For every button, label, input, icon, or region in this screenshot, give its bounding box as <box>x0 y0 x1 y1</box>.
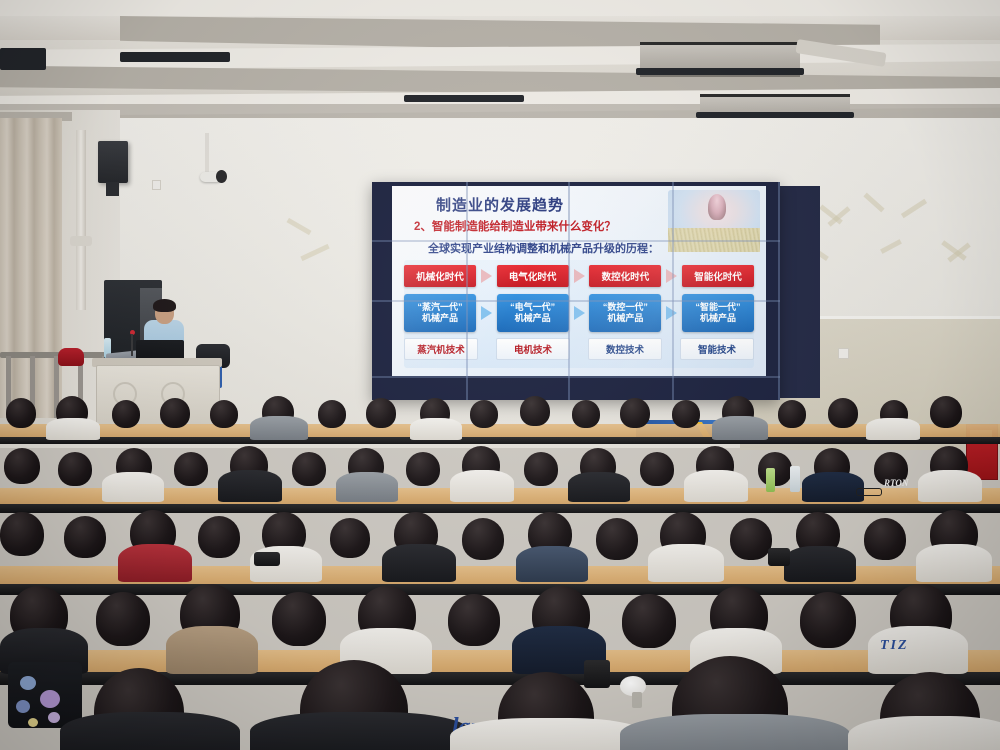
student-head <box>112 400 140 428</box>
video-wall-seam <box>568 182 570 400</box>
student-body <box>916 544 992 582</box>
shirt-back-text-right: TIZ <box>880 638 909 654</box>
student-head <box>96 592 150 646</box>
student-head <box>0 512 44 556</box>
student-head <box>318 400 346 428</box>
ceiling-hvac-unit <box>636 68 804 75</box>
student-body <box>218 470 282 502</box>
student-body <box>568 472 630 502</box>
student-body <box>848 716 1000 750</box>
student-body <box>450 470 514 502</box>
desk-row <box>0 437 1000 444</box>
student-head <box>406 452 440 486</box>
diagram-row-technologies: 蒸汽机技术 电机技术 数控技术 智能技术 <box>404 336 754 362</box>
student-head <box>198 516 240 558</box>
video-wall-panel-dark <box>780 186 820 398</box>
student-head <box>524 452 558 486</box>
student-body <box>784 546 856 582</box>
student-head <box>272 592 326 646</box>
ceiling-rail <box>404 95 524 102</box>
student-head <box>730 518 772 560</box>
video-wall-seam <box>372 300 780 302</box>
backpack-flower <box>48 712 60 723</box>
camera-mount <box>205 133 209 173</box>
student-body <box>166 626 258 674</box>
diagram-row-products: “蒸汽一代”机械产品 “电气一代”机械产品 “数控一代”机械产品 “智能一代”机… <box>404 292 754 334</box>
student-head <box>448 594 500 646</box>
ceiling-beam <box>0 0 1000 16</box>
student-head <box>520 396 550 426</box>
era-box: 电气化时代 <box>497 265 569 287</box>
student-head <box>672 400 700 428</box>
student-head <box>174 452 208 486</box>
drink-bottle <box>766 468 775 492</box>
student-body <box>684 470 748 502</box>
arrow-icon <box>476 292 497 334</box>
video-wall-seam <box>372 240 780 242</box>
student-body <box>46 418 100 440</box>
student-head <box>620 398 650 428</box>
student-body <box>648 544 724 582</box>
wall-speaker <box>98 141 128 183</box>
diagram-row-eras: 机械化时代 电气化时代 数控化时代 智能化时代 <box>404 262 754 290</box>
student-head <box>292 452 326 486</box>
shirt-logo: RTON <box>884 478 908 488</box>
slide-subtitle: 全球实现产业结构调整和机械产品升级的历程： <box>428 240 659 256</box>
red-bag <box>58 348 84 366</box>
student-body <box>620 714 850 750</box>
wall-speaker <box>106 182 119 196</box>
era-box: 智能化时代 <box>682 265 754 287</box>
phone-on-desk <box>254 552 280 566</box>
phone-on-desk <box>584 660 610 688</box>
student-head <box>828 398 858 428</box>
backpack-flower <box>40 690 60 708</box>
wheat-photo <box>708 194 726 220</box>
student-head <box>758 452 792 486</box>
student-body <box>866 418 920 440</box>
backpack-flower <box>28 718 38 727</box>
video-wall-seam <box>672 182 674 400</box>
student-body <box>250 712 470 750</box>
student-head <box>58 452 92 486</box>
wall-pipe <box>76 130 86 310</box>
student-body <box>250 416 308 440</box>
student-head <box>800 592 856 648</box>
student-head <box>596 518 638 560</box>
student-head <box>640 452 674 486</box>
student-body <box>918 470 982 502</box>
video-wall-seam <box>466 182 468 400</box>
progression-diagram: 机械化时代 电气化时代 数控化时代 智能化时代 “蒸汽一代”机械产品 “电气一代… <box>404 260 754 368</box>
technology-box: 数控技术 <box>588 338 662 360</box>
student-head <box>470 400 498 428</box>
backpack-flower <box>20 676 36 690</box>
technology-box: 电机技术 <box>496 338 570 360</box>
drink-bottle <box>790 466 800 492</box>
student-head <box>210 400 238 428</box>
student-head <box>572 400 600 428</box>
student-body <box>712 416 768 440</box>
slide-title: 制造业的发展趋势 <box>436 194 564 215</box>
lecture-hall-photo: 制造业的发展趋势 2、智能制造能给制造业带来什么变化？ 全球实现产业结构调整和机… <box>0 0 1000 750</box>
backpack-flower <box>16 700 30 713</box>
eyeglasses <box>856 488 882 496</box>
security-camera-icon <box>216 170 227 183</box>
student-body <box>60 712 240 750</box>
student-head <box>462 518 504 560</box>
student-head <box>160 398 190 428</box>
wall-outlet <box>838 348 849 359</box>
technology-box: 智能技术 <box>680 338 754 360</box>
arrow-icon <box>569 262 590 290</box>
slide-question: 2、智能制造能给制造业带来什么变化？ <box>414 218 616 234</box>
desk-row <box>0 584 1000 595</box>
student-head <box>330 518 370 558</box>
wall-pipe-joint <box>70 236 92 246</box>
microphone-icon <box>131 334 133 356</box>
lecturer <box>153 299 176 312</box>
video-wall-seam <box>372 376 780 378</box>
student-body <box>802 472 864 502</box>
video-wall-seam <box>778 182 780 400</box>
presentation-slide: 制造业的发展趋势 2、智能制造能给制造业带来什么变化？ 全球实现产业结构调整和机… <box>392 186 766 376</box>
student-head <box>930 396 962 428</box>
earbud-case-clip <box>632 692 642 708</box>
student-head <box>64 516 106 558</box>
student-head <box>4 448 40 484</box>
ceiling <box>0 0 1000 130</box>
student-head <box>6 398 36 428</box>
student-body <box>336 472 398 502</box>
student-body <box>382 544 456 582</box>
student-head <box>622 594 676 648</box>
student-body <box>516 546 588 582</box>
student-body <box>410 418 462 440</box>
student-head <box>864 518 906 560</box>
student-head <box>778 400 806 428</box>
phone-on-desk <box>768 548 790 566</box>
student-body <box>118 544 192 582</box>
student-body <box>102 472 164 502</box>
era-box: 数控化时代 <box>589 265 661 287</box>
student-head <box>366 398 396 428</box>
arrow-icon <box>569 292 590 334</box>
wall-outlet <box>152 180 161 190</box>
ceiling-rail <box>120 52 230 62</box>
ceiling-equipment <box>0 48 46 70</box>
arrow-icon <box>476 262 497 290</box>
